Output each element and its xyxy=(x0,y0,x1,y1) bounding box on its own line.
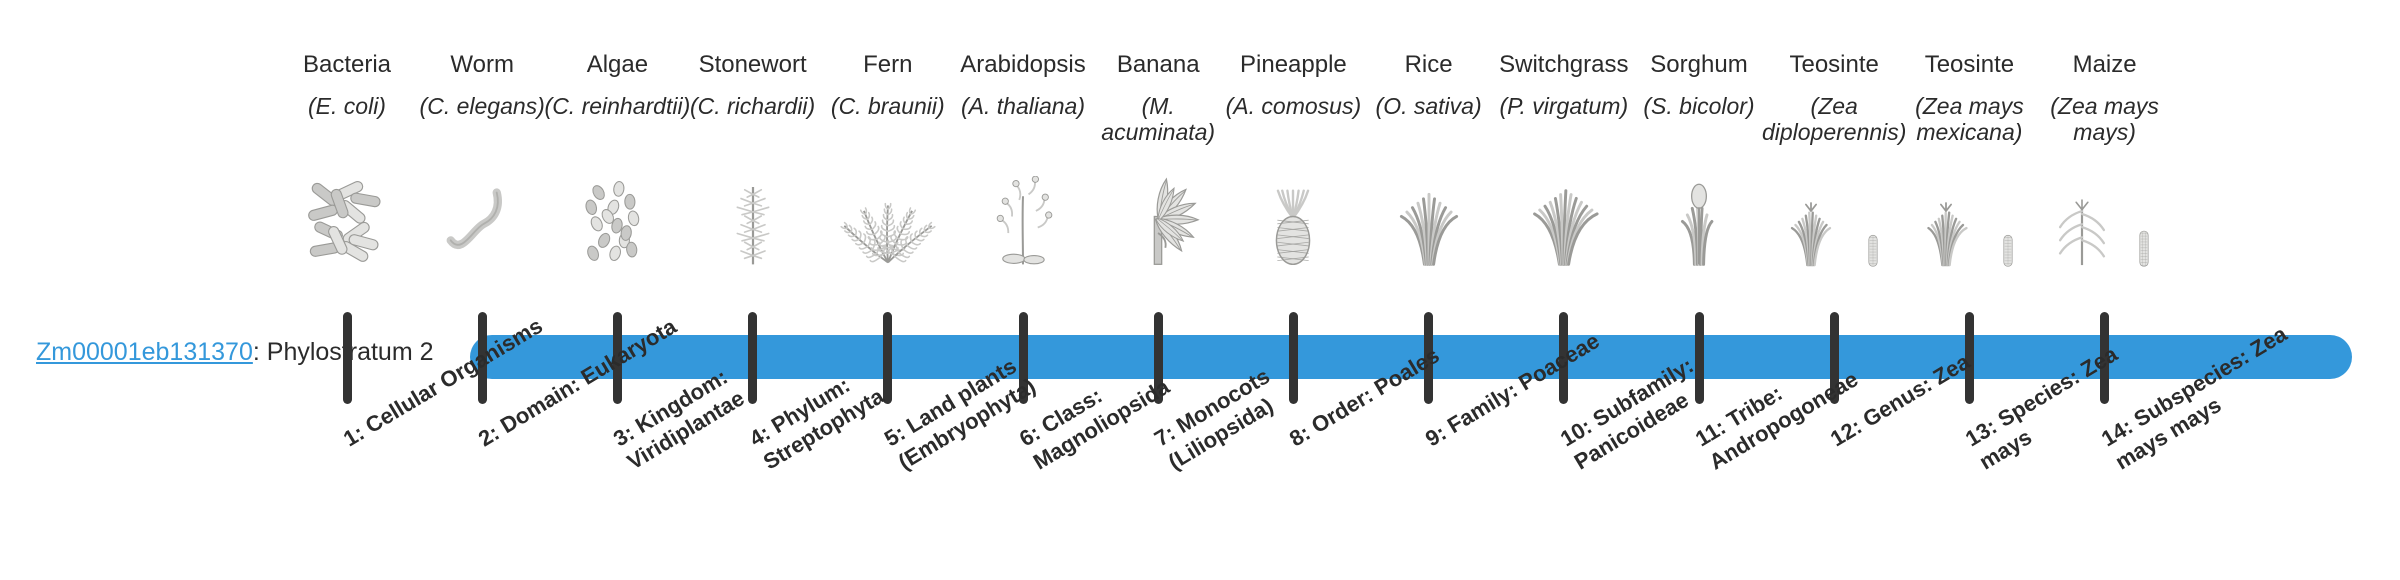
rice-icon xyxy=(1354,168,1504,268)
species-common-name: Teosinte xyxy=(1759,52,1909,79)
species-scientific-name: (C. reinhardtii) xyxy=(542,93,692,119)
species-common-name: Pineapple xyxy=(1218,52,1368,79)
species-common-name: Worm xyxy=(407,52,557,79)
species-column-sorghum-10: Sorghum(S. bicolor) xyxy=(1624,52,1774,119)
gene-id-link[interactable]: Zm00001eb131370 xyxy=(36,338,253,366)
species-common-name: Bacteria xyxy=(272,52,422,79)
species-common-name: Arabidopsis xyxy=(948,52,1098,79)
species-column-banana-6: Banana(M. acuminata) xyxy=(1083,52,1233,145)
species-common-name: Banana xyxy=(1083,52,1233,79)
species-scientific-name: (C. elegans) xyxy=(407,93,557,119)
species-scientific-name: (A. thaliana) xyxy=(948,93,1098,119)
maize-icon xyxy=(2030,168,2180,268)
species-scientific-name: (C. braunii) xyxy=(813,93,963,119)
gene-phylostratum-label: Zm00001eb131370: Phylostratum 2 xyxy=(36,340,434,365)
species-scientific-name: (P. virgatum) xyxy=(1489,93,1639,119)
rank-number: 12: xyxy=(1826,414,1866,452)
species-column-worm-1: Worm(C. elegans) xyxy=(407,52,557,119)
species-column-teosinte-12: Teosinte(Zea mays mexicana) xyxy=(1894,52,2044,145)
banana-icon xyxy=(1083,168,1233,268)
species-scientific-name: (Zea mays mays) xyxy=(2030,93,2180,145)
switchgrass-icon xyxy=(1489,168,1639,268)
species-column-switchgrass-9: Switchgrass(P. virgatum) xyxy=(1489,52,1639,119)
species-column-algae-2: Algae(C. reinhardtii) xyxy=(542,52,692,119)
species-column-teosinte-11: Teosinte(Zea diploperennis) xyxy=(1759,52,1909,145)
species-column-maize-13: Maize(Zea mays mays) xyxy=(2030,52,2180,145)
species-scientific-name: (S. bicolor) xyxy=(1624,93,1774,119)
species-common-name: Stonewort xyxy=(678,52,828,79)
species-column-stonewort-3: Stonewort(C. richardii) xyxy=(678,52,828,119)
rank-number: 8: xyxy=(1285,420,1315,452)
species-scientific-name: (Zea diploperennis) xyxy=(1759,93,1909,145)
rank-number: 9: xyxy=(1421,420,1451,452)
phylostratum-timeline: Zm00001eb131370: Phylostratum 2 Bacteria… xyxy=(0,0,2400,580)
species-scientific-name: (E. coli) xyxy=(272,93,422,119)
species-column-fern-4: Fern(C. braunii) xyxy=(813,52,963,119)
species-scientific-name: (M. acuminata) xyxy=(1083,93,1233,145)
species-scientific-name: (O. sativa) xyxy=(1354,93,1504,119)
species-common-name: Switchgrass xyxy=(1489,52,1639,79)
worm-icon xyxy=(407,168,557,268)
species-column-arabidopsis-5: Arabidopsis(A. thaliana) xyxy=(948,52,1098,119)
fern-icon xyxy=(813,168,963,268)
rank-number: 2: xyxy=(474,420,504,452)
species-common-name: Maize xyxy=(2030,52,2180,79)
rank-text: Kingdom: Viridiplantae xyxy=(623,364,749,475)
species-scientific-name: (Zea mays mexicana) xyxy=(1894,93,2044,145)
rank-number: 1: xyxy=(339,420,369,452)
bacteria-icon xyxy=(272,168,422,268)
pineapple-icon xyxy=(1218,168,1368,268)
species-common-name: Rice xyxy=(1354,52,1504,79)
phylostratum-tick-1[interactable] xyxy=(343,312,352,404)
species-column-pineapple-7: Pineapple(A. comosus) xyxy=(1218,52,1368,119)
species-common-name: Fern xyxy=(813,52,963,79)
arabidopsis-icon xyxy=(948,168,1098,268)
algae-icon xyxy=(542,168,692,268)
species-common-name: Teosinte xyxy=(1894,52,2044,79)
species-scientific-name: (A. comosus) xyxy=(1218,93,1368,119)
sorghum-icon xyxy=(1624,168,1774,268)
stonewort-icon xyxy=(678,168,828,268)
gene-label-separator: : xyxy=(253,338,267,366)
species-common-name: Sorghum xyxy=(1624,52,1774,79)
teosinte-mexicana-icon xyxy=(1894,168,2044,268)
teosinte-diploperennis-icon xyxy=(1759,168,1909,268)
species-column-rice-8: Rice(O. sativa) xyxy=(1354,52,1504,119)
species-common-name: Algae xyxy=(542,52,692,79)
species-column-bacteria-0: Bacteria(E. coli) xyxy=(272,52,422,119)
species-scientific-name: (C. richardii) xyxy=(678,93,828,119)
